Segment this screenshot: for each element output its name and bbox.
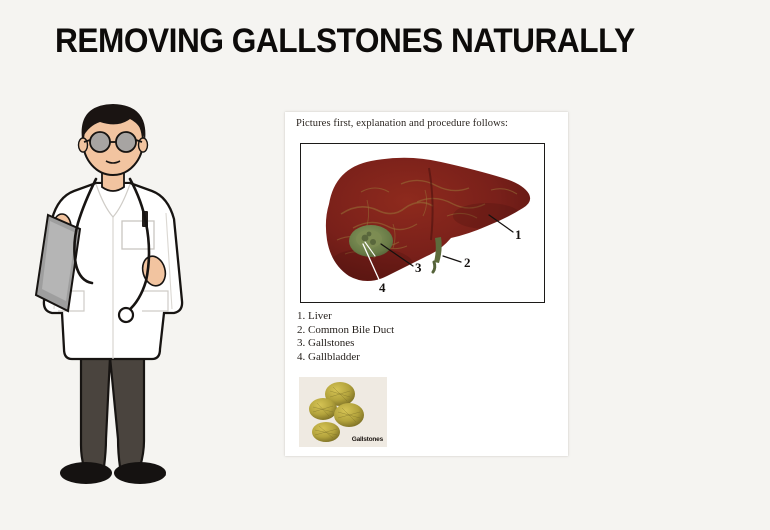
callout-number-3: 3 bbox=[415, 260, 422, 275]
callout-number-2: 2 bbox=[464, 255, 471, 270]
legend-item: 4. Gallbladder bbox=[297, 351, 394, 365]
callout-number-4: 4 bbox=[379, 280, 386, 295]
page-title: REMOVING GALLSTONES NATURALLY bbox=[55, 22, 635, 61]
doctor-illustration bbox=[18, 95, 218, 495]
doctor-svg bbox=[18, 95, 218, 495]
liver-figure: 1 2 3 4 bbox=[300, 143, 545, 303]
gallstones-figure: Gallstones bbox=[299, 377, 387, 447]
legend-list: 1. Liver 2. Common Bile Duct 3. Gallston… bbox=[297, 310, 394, 364]
legend-item: 3. Gallstones bbox=[297, 337, 394, 351]
legend-item: 2. Common Bile Duct bbox=[297, 324, 394, 338]
ear-right bbox=[139, 138, 148, 152]
callout-number-1: 1 bbox=[515, 227, 522, 242]
legend-item: 1. Liver bbox=[297, 310, 394, 324]
bile-duct-tip bbox=[433, 262, 435, 272]
ear-left bbox=[79, 138, 88, 152]
gallstones-caption: Gallstones bbox=[352, 436, 383, 443]
stethoscope-chestpiece bbox=[119, 308, 133, 322]
panel-caption: Pictures first, explanation and procedur… bbox=[296, 118, 508, 129]
liver-svg: 1 2 3 4 bbox=[301, 144, 542, 300]
content-panel: Pictures first, explanation and procedur… bbox=[285, 112, 568, 456]
